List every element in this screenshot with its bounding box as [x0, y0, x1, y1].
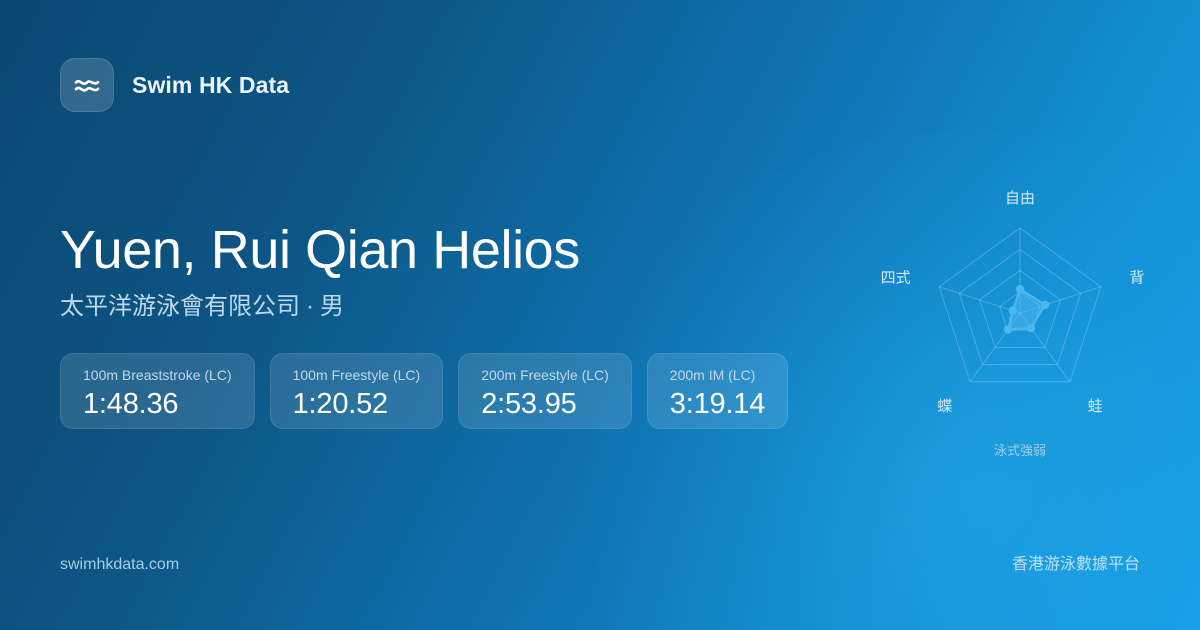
og-card: Swim HK Data Yuen, Rui Qian Helios 太平洋游泳… — [0, 0, 1200, 630]
stat-card-value: 3:19.14 — [670, 387, 765, 421]
radar-caption: 泳式強弱 — [994, 443, 1046, 458]
radar-axis-label: 四式 — [881, 270, 911, 287]
radar-axis-labels: 自由背蛙蝶四式 — [881, 190, 1145, 415]
wave-icon — [60, 58, 114, 112]
athlete-club: 太平洋游泳會有限公司 — [60, 293, 300, 320]
stat-card: 200m Freestyle (LC) 2:53.95 — [458, 353, 632, 429]
stat-card-value: 2:53.95 — [481, 387, 609, 421]
radar-data-point — [1041, 301, 1049, 309]
stat-card: 200m IM (LC) 3:19.14 — [647, 353, 788, 429]
footer-tagline: 香港游泳數據平台 — [1012, 550, 1140, 574]
footer-site-url: swimhkdata.com — [60, 556, 179, 574]
stat-card-label: 200m Freestyle (LC) — [481, 367, 609, 384]
stat-card-value: 1:48.36 — [83, 387, 232, 421]
radar-data-point — [1016, 285, 1024, 293]
meta-separator: · — [300, 293, 320, 320]
radar-axis-label: 蛙 — [1088, 398, 1103, 415]
headline: Yuen, Rui Qian Helios 太平洋游泳會有限公司·男 — [60, 218, 580, 322]
athlete-meta: 太平洋游泳會有限公司·男 — [60, 292, 580, 322]
radar-data-point — [1004, 325, 1012, 333]
radar-data-point — [1009, 306, 1017, 314]
stat-card: 100m Breaststroke (LC) 1:48.36 — [60, 353, 255, 429]
stat-card-value: 1:20.52 — [293, 387, 421, 421]
stat-card-label: 200m IM (LC) — [670, 367, 765, 384]
radar-axis-label: 蝶 — [937, 398, 952, 415]
stat-card-label: 100m Freestyle (LC) — [293, 367, 421, 384]
stat-card: 100m Freestyle (LC) 1:20.52 — [270, 353, 444, 429]
brand-name: Swim HK Data — [132, 72, 289, 99]
page-title: Yuen, Rui Qian Helios — [60, 218, 580, 282]
stat-card-row: 100m Breaststroke (LC) 1:48.36 100m Free… — [60, 353, 788, 429]
radar-axis-label: 背 — [1129, 270, 1144, 287]
brand: Swim HK Data — [60, 58, 289, 112]
athlete-gender: 男 — [320, 293, 344, 320]
stroke-strength-radar-chart: 自由背蛙蝶四式 泳式強弱 — [860, 160, 1180, 480]
radar-axis-label: 自由 — [1005, 190, 1035, 207]
radar-data-point — [1027, 324, 1035, 332]
radar-spoke — [939, 287, 1020, 313]
stat-card-label: 100m Breaststroke (LC) — [83, 367, 232, 384]
